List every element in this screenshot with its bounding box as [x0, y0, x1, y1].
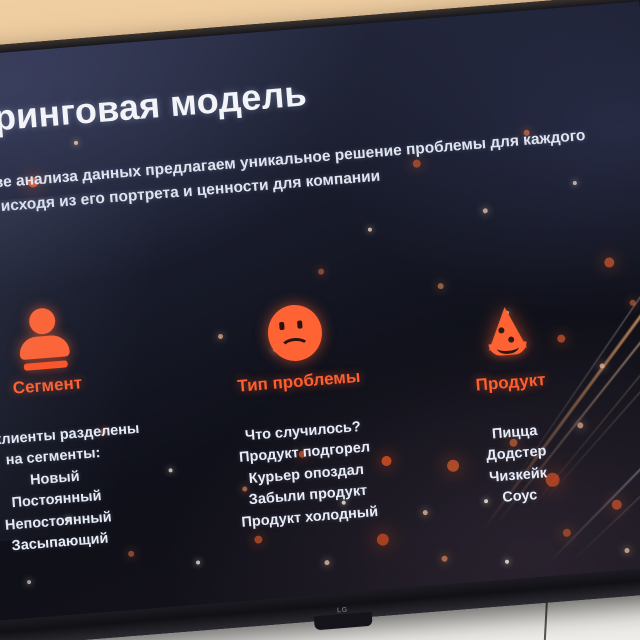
slide-subtitle: На основе анализа данных предлагаем уник…: [0, 124, 594, 224]
list-item: Ст: [605, 419, 640, 452]
column-list-truncated: Ст: [605, 419, 640, 452]
tv-screen[interactable]: Скоринговая модель На основе анализа дан…: [0, 1, 640, 621]
column-list-problem-type: Что случилось? Продукт подгорел Курьер о…: [197, 413, 415, 537]
bokeh-particle: [368, 227, 372, 231]
television[interactable]: Скоринговая модель На основе анализа дан…: [0, 0, 640, 640]
slide-column-product: Продукт Пицца Додстер Чизкейк Соус: [417, 298, 609, 515]
slide-column-problem-type: Тип проблемы Что случилось? Продукт подг…: [188, 296, 415, 537]
bokeh-particle: [482, 208, 487, 213]
bokeh-particle: [74, 141, 78, 145]
bokeh-particle: [318, 268, 324, 274]
photo-scene: Скоринговая модель На основе анализа дан…: [0, 0, 640, 640]
column-title-problem-type: Тип проблемы: [193, 363, 404, 400]
person-icon: [10, 306, 77, 373]
slide-column-segment: Сегмент Все клиенты разделены на сегмент…: [0, 299, 179, 564]
pizza-slice-icon: [474, 303, 541, 370]
bokeh-particle: [573, 181, 577, 185]
slide-columns: Сегмент Все клиенты разделены на сегмент…: [0, 251, 640, 607]
sad-face-icon: [262, 302, 329, 369]
column-list-product: Пицца Додстер Чизкейк Соус: [426, 416, 608, 516]
column-list-segment: Все клиенты разделены на сегменты: Новый…: [0, 416, 179, 563]
slide-title: Скоринговая модель: [0, 72, 308, 144]
column-title-segment: Сегмент: [0, 367, 166, 406]
column-title-truncated: К: [601, 370, 640, 402]
column-title-product: Продукт: [422, 366, 599, 400]
